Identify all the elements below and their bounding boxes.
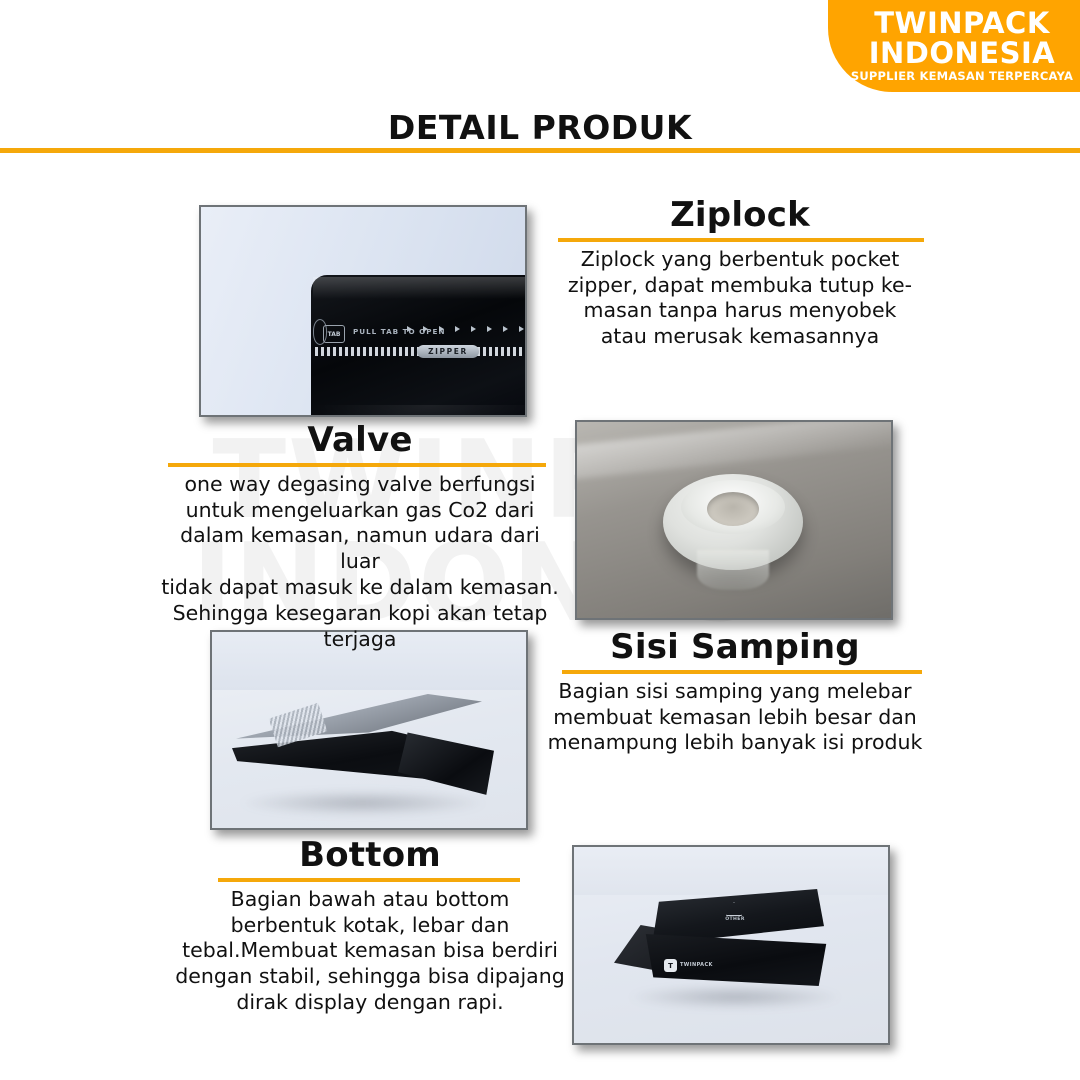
photo-valve [575, 420, 893, 620]
bottom-back-wall [574, 847, 890, 895]
bottom-logo-mark: T [664, 959, 677, 972]
section-side-divider [562, 670, 922, 674]
ziplock-tab-badge: TAB [323, 325, 345, 343]
ziplock-lower-shade [313, 405, 527, 417]
title-divider [0, 148, 1080, 153]
side-pouch-shadow [238, 790, 488, 816]
photo-side-gusset [210, 630, 528, 830]
section-ziplock: Ziplock Ziplock yang berbentuk pocket zi… [540, 198, 940, 350]
section-bottom-divider [218, 878, 520, 882]
page-title: DETAIL PRODUK [0, 108, 1080, 147]
section-ziplock-body: Ziplock yang berbentuk pocket zipper, da… [540, 247, 940, 350]
section-side-gusset: Sisi Samping Bagian sisi samping yang me… [532, 630, 938, 756]
section-bottom: Bottom Bagian bawah atau bottom berbentu… [160, 838, 580, 1016]
valve-vent-hole [707, 492, 759, 526]
ziplock-zipper-label: ZIPPER [417, 345, 479, 358]
bottom-logo-wordmark: TWINPACK [680, 962, 713, 968]
section-bottom-heading: Bottom [160, 838, 580, 874]
section-valve-heading: Valve [160, 423, 560, 459]
recycle-label: OTHER [716, 917, 754, 922]
section-valve: Valve one way degasing valve berfungsi u… [160, 423, 560, 652]
bottom-pouch-shadow [630, 985, 840, 1009]
brand-logo-line-1: TWINPACK [874, 9, 1050, 39]
brand-logo: TWINPACK INDONESIA SUPPLIER KEMASAN TERP… [828, 0, 1080, 92]
section-valve-divider [168, 463, 546, 467]
brand-logo-tagline: SUPPLIER KEMASAN TERPERCAYA [851, 69, 1073, 83]
section-bottom-body: Bagian bawah atau bottom berbentuk kotak… [160, 887, 580, 1016]
photo-bottom: OTHER T TWINPACK [572, 845, 890, 1045]
ziplock-arrow-icons [407, 326, 524, 332]
photo-ziplock: TAB PULL TAB TO OPEN ZIPPER [199, 205, 527, 417]
section-side-body: Bagian sisi samping yang melebar membuat… [532, 679, 938, 756]
ziplock-sheen [313, 277, 527, 299]
product-detail-infographic: TWINPACK INDONESIA TWINPACK INDONESIA SU… [0, 0, 1080, 1080]
section-side-heading: Sisi Samping [532, 630, 938, 666]
section-valve-body: one way degasing valve berfungsi untuk m… [160, 472, 560, 653]
brand-logo-line-2: INDONESIA [869, 39, 1056, 69]
section-ziplock-heading: Ziplock [540, 198, 940, 234]
section-ziplock-divider [558, 238, 924, 242]
valve-base [697, 550, 769, 590]
